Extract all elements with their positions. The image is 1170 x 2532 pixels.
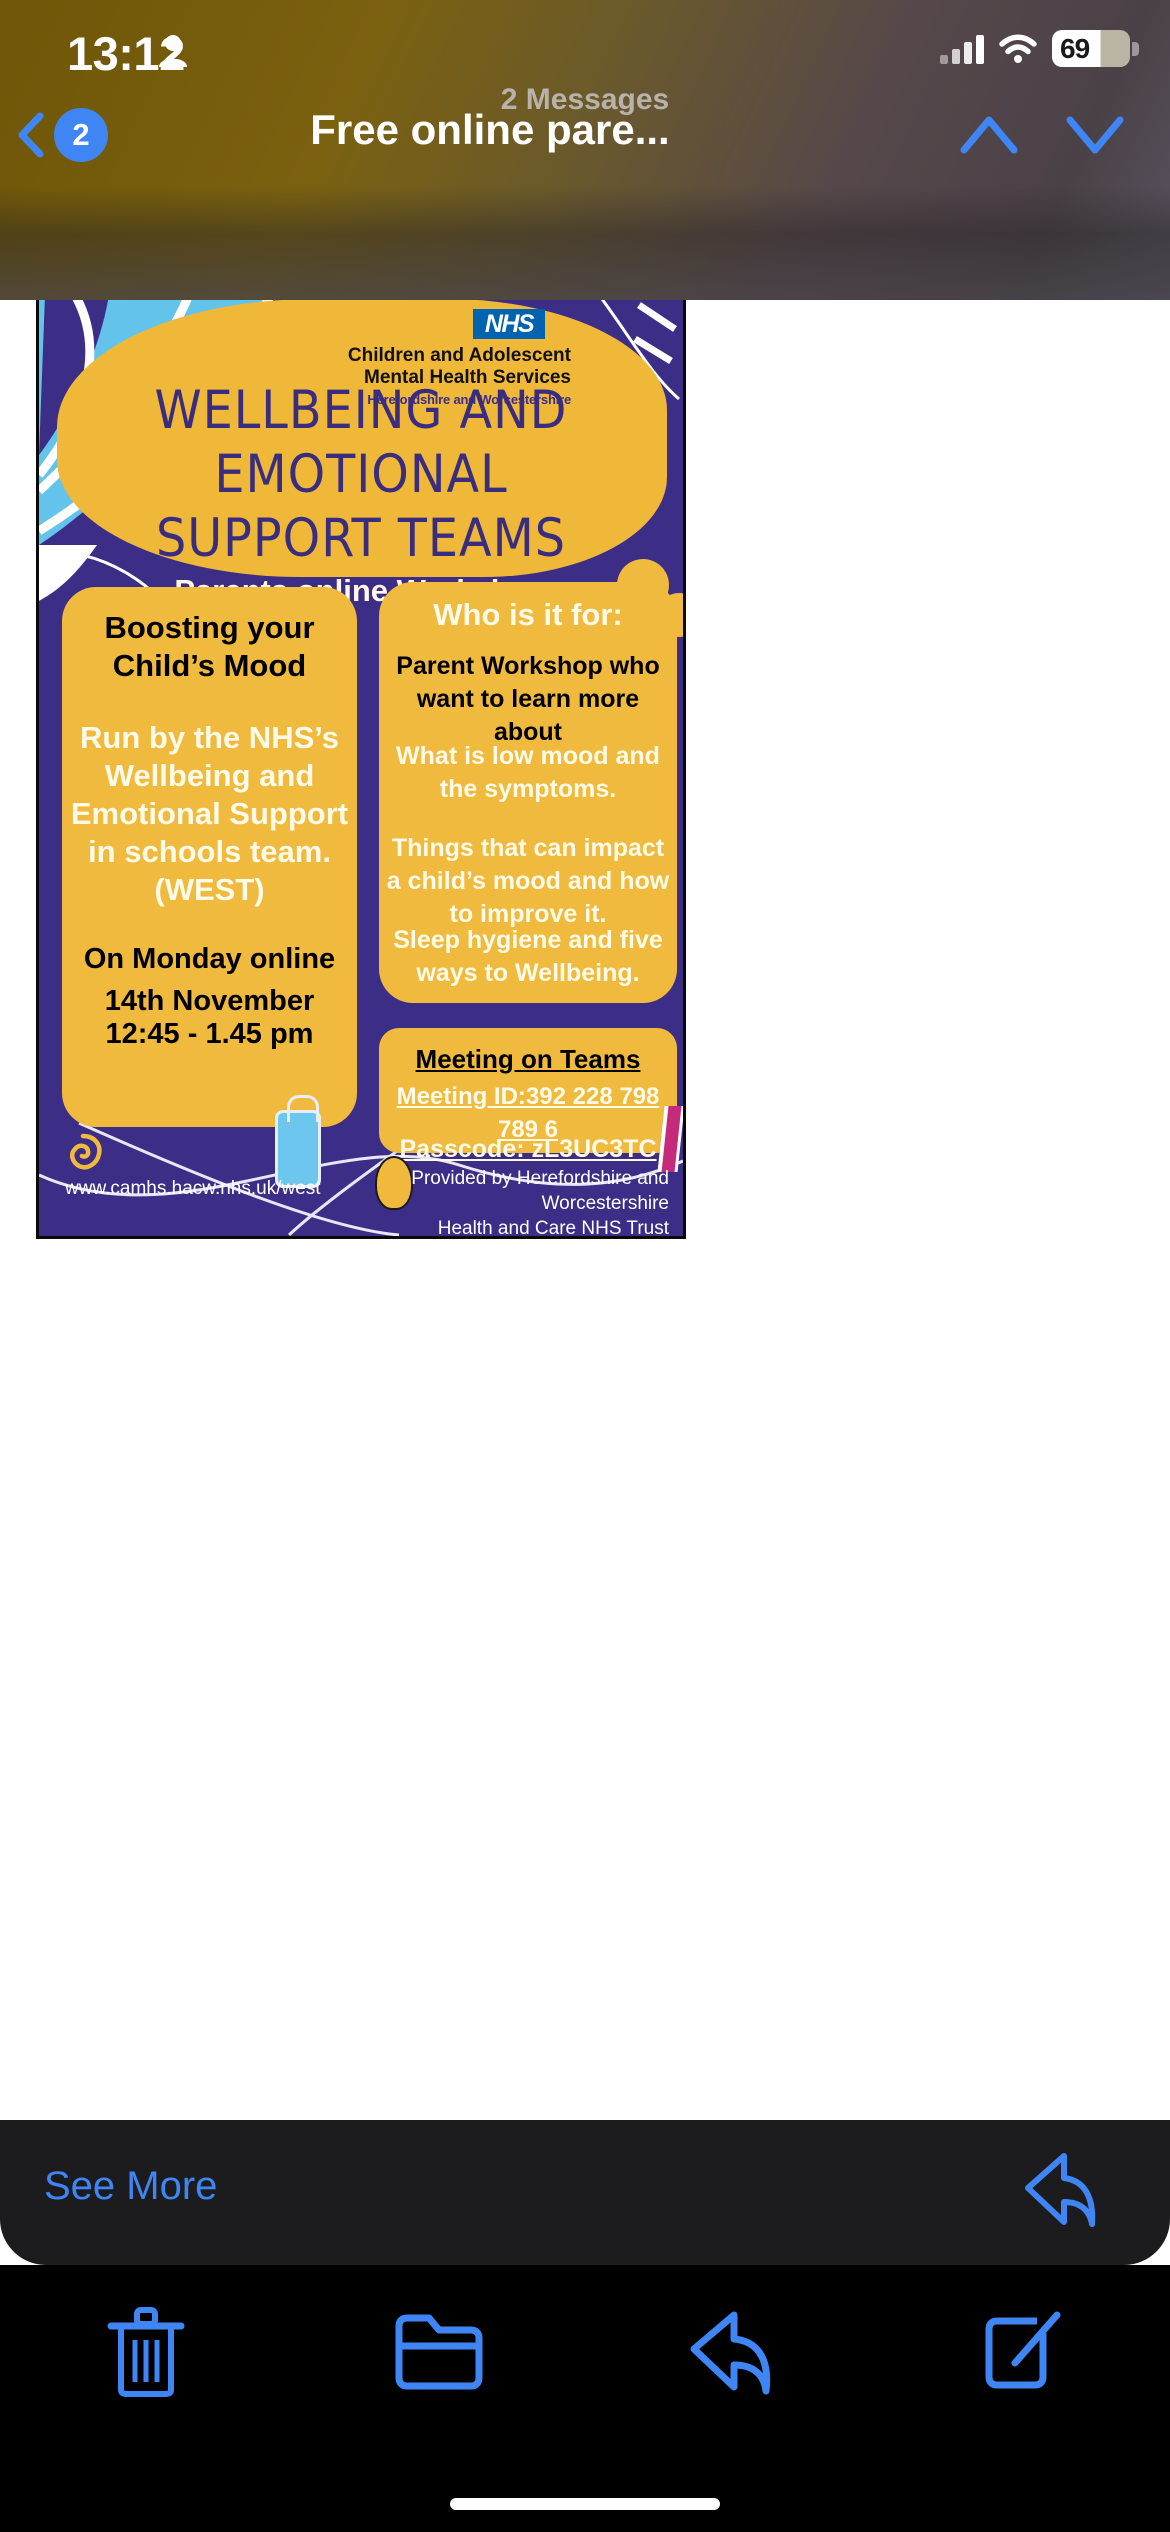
compose-icon[interactable] — [981, 2311, 1067, 2393]
poster-attachment[interactable]: NHS Children and Adolescent Mental Healt… — [36, 292, 686, 1239]
home-indicator[interactable] — [450, 2498, 720, 2510]
left-card-body: Run by the NHS’s Wellbeing and Emotional… — [68, 719, 351, 909]
nhs-service-line1: Children and Adolescent — [321, 345, 571, 367]
date-line2: 14th November — [72, 985, 347, 1018]
nhs-logo: NHS — [473, 309, 545, 339]
conversation-title: Free online pare... — [190, 106, 790, 154]
right-card-para1: Parent Workshop who want to learn more a… — [385, 650, 671, 749]
reply-button[interactable] — [585, 2297, 878, 2407]
right-card-para4: Sleep hygiene and five ways to Wellbeing… — [385, 924, 671, 990]
navigation-bar: 2 Free online pare... — [0, 106, 1170, 166]
right-info-card: Who is it for: Parent Workshop who want … — [379, 582, 677, 1003]
poster-title-line1: WELLBEING AND — [39, 379, 683, 443]
date-line1: On Monday online — [72, 943, 347, 976]
left-card-heading-line2: Child’s Mood — [78, 647, 341, 685]
poster-header: NHS Children and Adolescent Mental Healt… — [39, 295, 683, 577]
poster-footer: www.camhs.hacw.nhs.uk/west Provided by H… — [39, 1118, 683, 1236]
message-scroll-area[interactable]: www.camhs.hacw.nhs.uk/west Provided by H… — [0, 0, 1170, 2100]
compose-button[interactable] — [878, 2297, 1170, 2407]
battery-icon: 69 — [1052, 30, 1130, 67]
poster-footer-provider: Provided by Herefordshire and Worcesters… — [369, 1166, 669, 1239]
poster-title-line2: EMOTIONAL — [39, 443, 683, 507]
left-card-date: On Monday online 14th November 12:45 - 1… — [72, 943, 347, 1051]
move-to-folder-button[interactable] — [293, 2297, 586, 2407]
right-card-para2: What is low mood and the symptoms. — [385, 740, 671, 806]
person-icon — [158, 34, 188, 68]
poster-footer-provider-line2: Health and Care NHS Trust — [369, 1216, 669, 1239]
poster-title-line3: SUPPORT TEAMS — [39, 507, 683, 571]
back-button[interactable]: 2 — [16, 108, 108, 162]
chevron-left-icon[interactable] — [16, 112, 46, 158]
status-indicators: 69 — [940, 30, 1130, 67]
left-card-heading: Boosting your Child’s Mood — [78, 609, 341, 685]
reply-icon[interactable] — [1020, 2150, 1100, 2228]
delete-button[interactable] — [0, 2297, 293, 2407]
see-more-bar: See More — [0, 2120, 1170, 2265]
cellular-signal-icon — [940, 34, 984, 64]
spiral-icon — [63, 1132, 103, 1174]
folder-icon[interactable] — [393, 2312, 485, 2392]
battery-level: 69 — [1052, 33, 1089, 65]
left-info-card: Boosting your Child’s Mood Run by the NH… — [62, 587, 357, 1127]
toolbar-icons — [0, 2297, 1170, 2407]
right-card-para3: Things that can impact a child’s mood an… — [385, 832, 671, 931]
date-line3: 12:45 - 1.45 pm — [72, 1018, 347, 1051]
backpack-icon — [275, 1110, 321, 1188]
poster-footer-provider-line1: Provided by Herefordshire and Worcesters… — [369, 1166, 669, 1216]
right-card-heading: Who is it for: — [389, 596, 667, 634]
left-card-heading-line1: Boosting your — [78, 609, 341, 647]
unread-badge[interactable]: 2 — [54, 108, 108, 162]
chevron-up-icon[interactable] — [958, 112, 1020, 158]
message-toolbar — [0, 2265, 1170, 2532]
top-chrome: 13:12 69 2 Messages — [0, 0, 1170, 300]
trash-icon[interactable] — [107, 2306, 185, 2398]
see-more-button[interactable]: See More — [44, 2164, 217, 2209]
phone-screen: www.camhs.hacw.nhs.uk/west Provided by H… — [0, 0, 1170, 2532]
teams-heading: Meeting on Teams — [387, 1040, 669, 1078]
reply-icon[interactable] — [686, 2309, 776, 2395]
poster-title: WELLBEING AND EMOTIONAL SUPPORT TEAMS — [39, 379, 683, 571]
chevron-down-icon[interactable] — [1064, 112, 1126, 158]
wifi-icon — [998, 34, 1038, 64]
poster-footer-url: www.camhs.hacw.nhs.uk/west — [65, 1178, 321, 1200]
